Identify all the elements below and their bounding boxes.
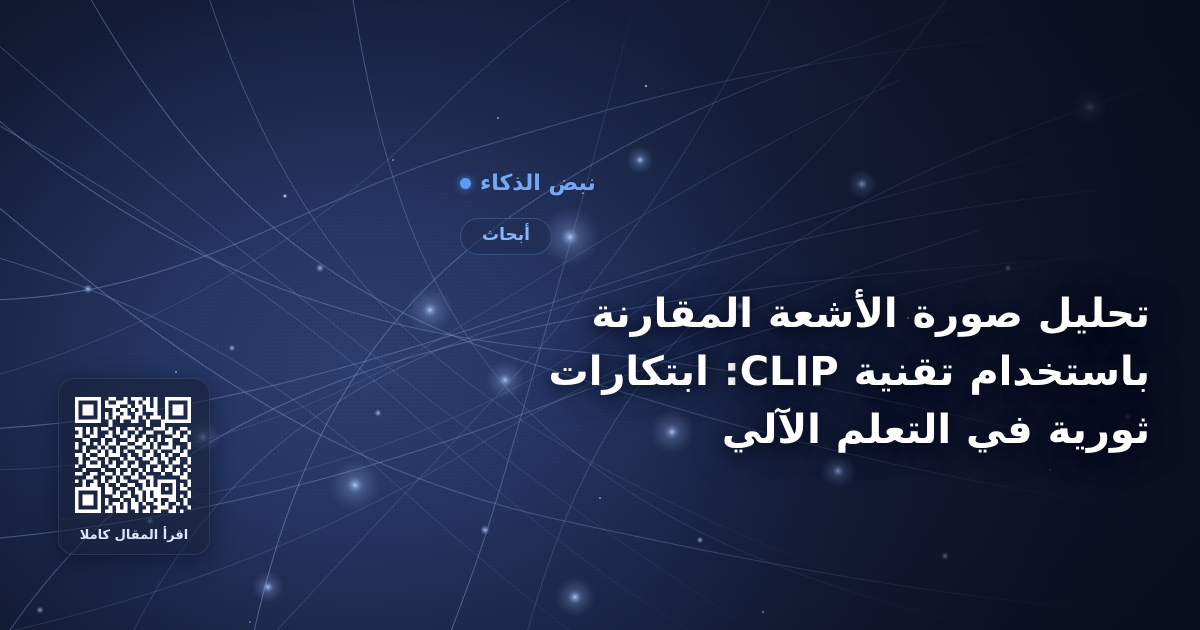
bullet-dot-icon: [460, 178, 471, 189]
qr-code-icon: [71, 393, 195, 517]
brand-lockup[interactable]: نبض الذكاء: [460, 171, 596, 196]
qr-card-caption: اقرأ المقال كاملا: [73, 528, 195, 544]
page-title: تحليل صورة الأشعة المقارنة باستخدام تقني…: [460, 285, 1150, 459]
brand-name: نبض الذكاء: [480, 171, 596, 196]
og-image-card: اقرأ المقال كاملا نبض الذكاء أبحاث تحليل…: [0, 0, 1200, 630]
qr-code-card[interactable]: اقرأ المقال كاملا: [58, 378, 210, 555]
category-badge[interactable]: أبحاث: [460, 218, 552, 255]
text-content-column: نبض الذكاء أبحاث تحليل صورة الأشعة المقا…: [460, 0, 1200, 630]
